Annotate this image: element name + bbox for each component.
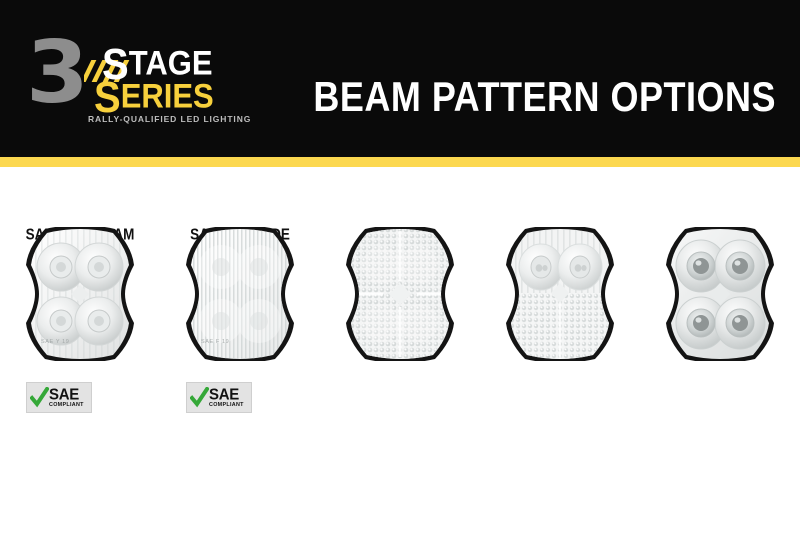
page-title: BEAM PATTERN OPTIONS xyxy=(313,73,776,121)
lens-graphic xyxy=(177,227,303,361)
lens-etching-text: SAE Y 19 xyxy=(41,339,69,345)
brand-logo: 3 STAGE SERIES RALLY-QUALIFIED LED LIGHT… xyxy=(26,32,256,132)
logo-series-rest: ERIES xyxy=(121,77,214,116)
green-check-icon xyxy=(190,387,209,409)
lens-image-sae-high-beam-driving: SAE Y 19 xyxy=(17,227,143,361)
header-bar: 3 STAGE SERIES RALLY-QUALIFIED LED LIGHT… xyxy=(0,0,800,157)
beam-pattern-column-sae-fog-wide: SAE FOG/WIDE xyxy=(160,167,320,533)
beam-pattern-grid: SAE HIGH BEAM /DRIVING xyxy=(0,167,800,533)
beam-pattern-options-page: 3 STAGE SERIES RALLY-QUALIFIED LED LIGHT… xyxy=(0,0,800,533)
lens-graphic xyxy=(17,227,143,361)
beam-pattern-column-spot: SPOT xyxy=(640,167,800,533)
beam-pattern-column-flood: FLOOD xyxy=(320,167,480,533)
sae-compliant-badge: SAE COMPLIANT xyxy=(26,382,92,413)
sae-badge-title: SAE xyxy=(209,387,244,403)
sae-badge-text: SAE COMPLIANT xyxy=(209,387,244,408)
lens-image-combo xyxy=(497,227,623,361)
sae-compliant-badge: SAE COMPLIANT xyxy=(186,382,252,413)
lens-graphic xyxy=(497,227,623,361)
lens-etching-text: SAE F 19 xyxy=(201,339,229,345)
green-check-icon xyxy=(30,387,49,409)
logo-word-series: SERIES xyxy=(94,79,214,115)
header-accent-rule xyxy=(0,157,800,167)
lens-image-spot xyxy=(657,227,783,361)
sae-badge-title: SAE xyxy=(49,387,84,403)
lens-graphic xyxy=(337,227,463,361)
beam-pattern-column-sae-high-beam-driving: SAE HIGH BEAM /DRIVING xyxy=(0,167,160,533)
logo-tagline: RALLY-QUALIFIED LED LIGHTING xyxy=(88,114,251,124)
lens-image-sae-fog-wide: SAE F 19 xyxy=(177,227,303,361)
beam-pattern-column-combo: COMBO xyxy=(480,167,640,533)
logo-numeral-3: 3 xyxy=(26,30,86,116)
lens-image-flood xyxy=(337,227,463,361)
lens-graphic xyxy=(657,227,783,361)
sae-badge-text: SAE COMPLIANT xyxy=(49,387,84,408)
